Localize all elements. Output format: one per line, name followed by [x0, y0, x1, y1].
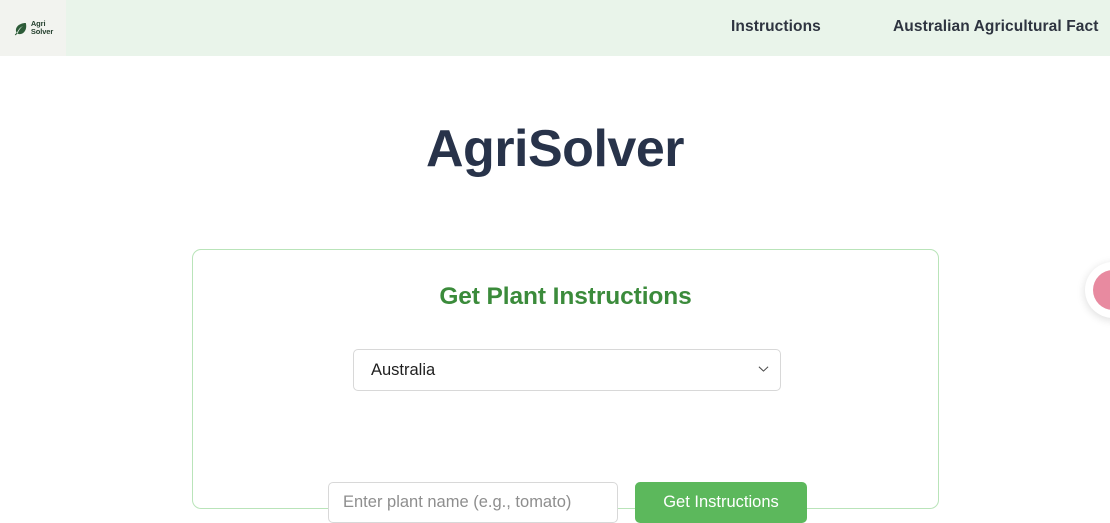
nav-link-australian-agricultural-facts[interactable]: Australian Agricultural Fact — [893, 18, 1099, 36]
chat-launcher-icon — [1093, 270, 1110, 310]
brand-logo-inner: Agri Solver — [13, 20, 53, 37]
main-content: AgriSolver Get Plant Instructions Austra… — [0, 56, 1110, 466]
get-plant-instructions-card: Get Plant Instructions Australia Get Ins… — [192, 249, 939, 509]
card-title: Get Plant Instructions — [193, 282, 938, 312]
country-select-wrapper: Australia — [353, 349, 781, 391]
page-title: AgriSolver — [0, 120, 1110, 178]
brand-logo-text: Agri Solver — [31, 20, 53, 37]
get-instructions-button[interactable]: Get Instructions — [635, 482, 807, 523]
brand-logo-line2: Solver — [31, 28, 53, 37]
country-select[interactable]: Australia — [353, 349, 781, 391]
main-navigation: Instructions Australian Agricultural Fac… — [66, 0, 1110, 56]
leaf-icon — [13, 21, 28, 36]
plant-form-row: Get Instructions — [328, 482, 808, 523]
nav-link-instructions[interactable]: Instructions — [731, 18, 821, 36]
plant-name-input[interactable] — [328, 482, 618, 523]
site-header: Agri Solver Instructions Australian Agri… — [0, 0, 1110, 56]
brand-logo[interactable]: Agri Solver — [0, 0, 66, 56]
